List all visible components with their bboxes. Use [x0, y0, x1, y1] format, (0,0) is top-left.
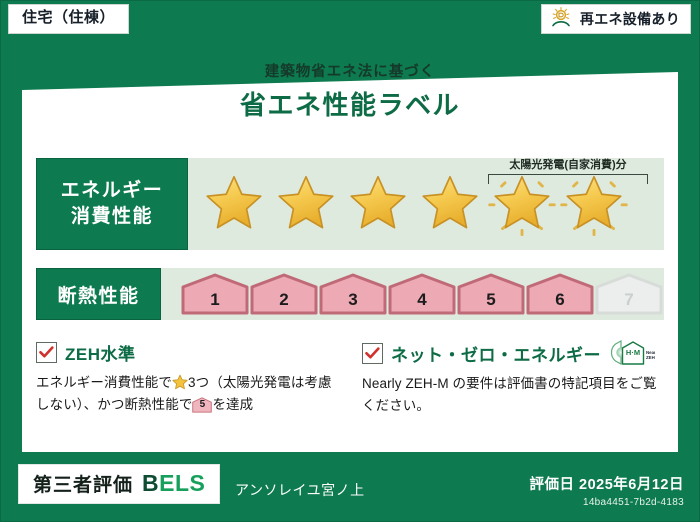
note-zeh-title: ZEH水準: [65, 340, 136, 365]
building-name: アンソレイユ宮ノ上: [235, 480, 365, 500]
label-title: 省エネ性能ラベル: [0, 85, 700, 122]
inline-house-level: 5: [192, 397, 212, 413]
note-zeh-star-count: 3つ: [188, 375, 209, 390]
label-subtitle: 建築物省エネ法に基づく: [0, 60, 700, 81]
inline-house-icon: 5: [192, 397, 212, 413]
energy-performance-label: 住宅（住棟） 再エネ設備あり 建築物省エネ法に基づく: [0, 0, 700, 522]
insulation-level-number: 4: [388, 290, 456, 310]
insulation-level-on: 5: [457, 273, 525, 315]
star-filled: [416, 171, 484, 237]
insulation-row-body: 1 2 3 4 5 6 7: [161, 268, 664, 320]
star-filled: [200, 171, 268, 237]
note-nze-header: ネット・ゼロ・エネルギー H·M Nearly: [362, 340, 664, 366]
bels-letter-b: B: [142, 470, 159, 496]
insulation-level-number: 2: [250, 290, 318, 310]
insulation-level-off: 7: [595, 273, 663, 315]
star-filled: [344, 171, 412, 237]
insulation-level-on: 1: [181, 273, 249, 315]
solar-sun-icon: [550, 6, 574, 33]
energy-row-label: エネルギー 消費性能: [36, 158, 188, 250]
checkbox-zeh-standard[interactable]: [36, 342, 57, 363]
svg-text:ZEH-M: ZEH-M: [646, 355, 655, 360]
solar-portion-annotation: 太陽光発電(自家消費)分: [488, 156, 648, 184]
title-block: 建築物省エネ法に基づく 省エネ性能ラベル: [0, 60, 700, 122]
insulation-level-number: 7: [595, 290, 663, 310]
bels-jp-text: 第三者評価: [33, 470, 133, 497]
note-nze-body: Nearly ZEH-M の要件は評価書の特記項目をご覧ください。: [362, 373, 664, 417]
insulation-level-number: 3: [319, 290, 387, 310]
solar-bracket-line: [488, 174, 648, 184]
evaluation-id: 14ba4451-7b2d-4183: [530, 497, 684, 508]
checkbox-net-zero-energy[interactable]: [362, 343, 383, 364]
svg-text:H·M: H·M: [626, 348, 640, 357]
insulation-level-number: 6: [526, 290, 594, 310]
check-icon: [39, 346, 54, 359]
bels-logo-text: BELS: [142, 470, 205, 497]
document-type-chip: 住宅（住棟）: [8, 4, 129, 34]
insulation-row-label-text: 断熱性能: [57, 281, 139, 308]
insulation-row-label: 断熱性能: [36, 268, 161, 320]
note-zeh-header: ZEH水準: [36, 340, 338, 365]
insulation-level-on: 6: [526, 273, 594, 315]
insulation-level-on: 4: [388, 273, 456, 315]
note-zeh-text-3: を達成: [212, 397, 253, 412]
criteria-notes: ZEH水準 エネルギー消費性能で 3つ（太陽光発電は考慮しない）、かつ断熱性能で…: [36, 340, 664, 417]
note-nze-title: ネット・ゼロ・エネルギー: [391, 341, 601, 366]
insulation-level-number: 5: [457, 290, 525, 310]
insulation-level-number: 1: [181, 290, 249, 310]
insulation-level-on: 2: [250, 273, 318, 315]
solar-badge-label: 再エネ設備あり: [580, 9, 680, 29]
label-footer: 第三者評価 BELS アンソレイユ宮ノ上 評価日 2025年6月12日 14ba…: [0, 452, 700, 522]
energy-row-label-line2: 消費性能: [71, 204, 153, 230]
star-filled: [272, 171, 340, 237]
bels-letters-els: ELS: [159, 470, 205, 496]
note-net-zero-energy: ネット・ゼロ・エネルギー H·M Nearly: [362, 340, 664, 417]
energy-performance-row: エネルギー 消費性能: [36, 158, 664, 250]
note-zeh-standard: ZEH水準 エネルギー消費性能で 3つ（太陽光発電は考慮しない）、かつ断熱性能で…: [36, 340, 338, 417]
zeh-m-logo-icon: H·M Nearly ZEH-M: [611, 340, 655, 366]
check-icon: [365, 347, 380, 360]
energy-row-label-line1: エネルギー: [61, 178, 164, 204]
note-zeh-text-1: エネルギー消費性能で: [36, 375, 172, 390]
insulation-performance-row: 断熱性能 1 2 3 4 5 6 7: [36, 268, 664, 320]
insulation-level-scale: 1 2 3 4 5 6 7: [181, 273, 664, 315]
note-zeh-body: エネルギー消費性能で 3つ（太陽光発電は考慮しない）、かつ断熱性能で 5 を達成: [36, 372, 338, 416]
solar-equipment-badge: 再エネ設備あり: [541, 4, 691, 34]
bels-third-party-box: 第三者評価 BELS: [18, 464, 220, 504]
energy-row-body: 太陽光発電(自家消費)分: [188, 158, 664, 250]
inline-star-icon: [172, 374, 188, 390]
evaluation-date: 評価日 2025年6月12日: [530, 473, 684, 494]
solar-portion-label: 太陽光発電(自家消費)分: [488, 156, 648, 172]
insulation-level-on: 3: [319, 273, 387, 315]
evaluation-info: 評価日 2025年6月12日 14ba4451-7b2d-4183: [530, 473, 684, 508]
